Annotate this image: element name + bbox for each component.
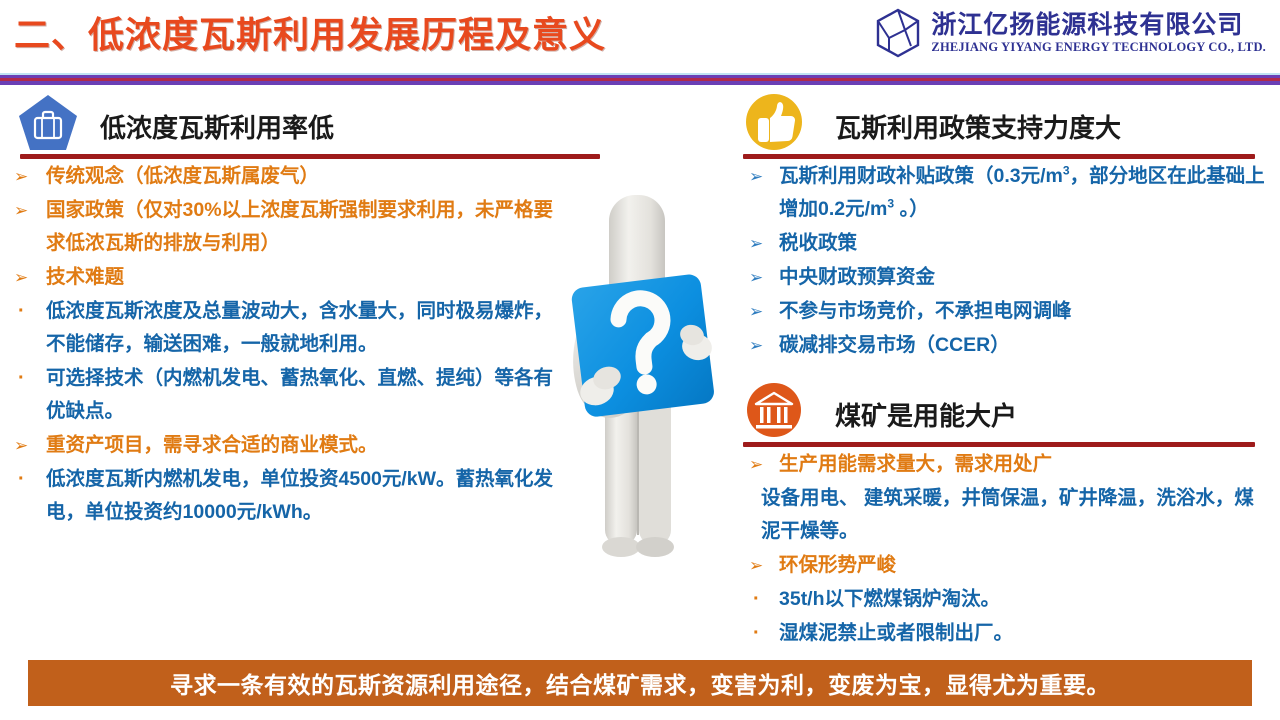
dot-bullet-icon: · bbox=[18, 295, 25, 328]
list-item-text: 35t/h以下燃煤锅炉淘汰。 bbox=[779, 588, 1000, 610]
list-item-text: 传统观念（低浓度瓦斯属废气） bbox=[46, 165, 319, 187]
right-column: 瓦斯利用政策支持力度大 ➢ 瓦斯利用财政补贴政策（0.3元/m3，部分地区在此基… bbox=[735, 92, 1265, 650]
dot-bullet-icon: · bbox=[18, 463, 25, 496]
list-item-text: 低浓度瓦斯内燃机发电，单位投资4500元/kW。蓄热氧化发电，单位投资约1000… bbox=[46, 468, 553, 523]
list-item-text: 技术难题 bbox=[46, 266, 124, 288]
hexagon-logo-icon bbox=[875, 8, 921, 58]
section-policy-support: 瓦斯利用政策支持力度大 bbox=[735, 92, 1265, 159]
list-item-text-post: 。） bbox=[894, 198, 929, 220]
dot-bullet-icon: · bbox=[753, 617, 760, 650]
arrow-bullet-icon: ➢ bbox=[749, 329, 763, 362]
list-item: · 湿煤泥禁止或者限制出厂。 bbox=[735, 617, 1265, 650]
section-rule-left bbox=[20, 154, 600, 159]
footer-text: 寻求一条有效的瓦斯资源利用途径，结合煤矿需求，变害为利，变废为宝，显得尤为重要。 bbox=[170, 666, 1110, 700]
list-item: ➢ 不参与市场竞价，不承担电网调峰 bbox=[735, 295, 1265, 328]
header-divider bbox=[0, 73, 1280, 85]
right-bullet-list-2: ➢ 生产用能需求量大，需求用处广 设备用电、 建筑采暖，井筒保温，矿井降温，洗浴… bbox=[735, 448, 1265, 650]
arrow-bullet-icon: ➢ bbox=[14, 261, 28, 294]
arrow-bullet-icon: ➢ bbox=[14, 194, 28, 227]
list-item-text: 低浓度瓦斯浓度及总量波动大，含水量大，同时极易爆炸，不能储存，输送困难，一般就地… bbox=[46, 300, 553, 355]
section-coal-mine-energy: 煤矿是用能大户 bbox=[735, 380, 1265, 447]
arrow-bullet-icon: ➢ bbox=[749, 295, 763, 328]
section-rule-right-2 bbox=[743, 442, 1255, 447]
section-title-right-1: 瓦斯利用政策支持力度大 bbox=[835, 108, 1121, 145]
dot-bullet-icon: · bbox=[753, 583, 760, 616]
list-item: ➢ 碳减排交易市场（CCER） bbox=[735, 329, 1265, 362]
slide-header: 二、低浓度瓦斯利用发展历程及意义 浙江亿扬能源科技有限公司 ZHEJIANG Y… bbox=[0, 0, 1280, 73]
list-item: · 35t/h以下燃煤锅炉淘汰。 bbox=[735, 583, 1265, 616]
list-item-text: 设备用电、 建筑采暖，井筒保温，矿井降温，洗浴水，煤泥干燥等。 bbox=[761, 487, 1254, 542]
superscript-cubic: 3 bbox=[1063, 164, 1070, 178]
arrow-bullet-icon: ➢ bbox=[749, 160, 763, 193]
section-low-utilization: 低浓度瓦斯利用率低 bbox=[0, 92, 620, 159]
list-item: ➢ 环保形势严峻 bbox=[735, 549, 1265, 582]
briefcase-pentagon-icon bbox=[18, 94, 78, 152]
section-title-left: 低浓度瓦斯利用率低 bbox=[100, 108, 334, 145]
list-item-text-pre: 瓦斯利用财政补贴政策（0.3元/m bbox=[779, 165, 1063, 187]
list-item-text: 碳减排交易市场（CCER） bbox=[779, 334, 1010, 356]
footer-banner: 寻求一条有效的瓦斯资源利用途径，结合煤矿需求，变害为利，变废为宝，显得尤为重要。 bbox=[28, 660, 1252, 706]
logo-name-cn: 浙江亿扬能源科技有限公司 bbox=[931, 13, 1266, 38]
list-item: ➢ 重资产项目，需寻求合适的商业模式。 bbox=[0, 429, 566, 462]
left-column: 低浓度瓦斯利用率低 ➢ 传统观念（低浓度瓦斯属废气） ➢ 国家政策（仅对30%以… bbox=[0, 92, 620, 529]
list-item: · 可选择技术（内燃机发电、蓄热氧化、直燃、提纯）等各有优缺点。 bbox=[0, 362, 566, 428]
list-item: ➢ 税收政策 bbox=[735, 227, 1265, 260]
list-item: ➢ 瓦斯利用财政补贴政策（0.3元/m3，部分地区在此基础上增加0.2元/m3 … bbox=[735, 160, 1265, 226]
left-bullet-list: ➢ 传统观念（低浓度瓦斯属废气） ➢ 国家政策（仅对30%以上浓度瓦斯强制要求利… bbox=[0, 160, 620, 529]
list-item: · 低浓度瓦斯浓度及总量波动大，含水量大，同时极易爆炸，不能储存，输送困难，一般… bbox=[0, 295, 566, 361]
arrow-bullet-icon: ➢ bbox=[749, 549, 763, 582]
section-rule-right-1 bbox=[743, 154, 1255, 159]
list-item-text: 湿煤泥禁止或者限制出厂。 bbox=[779, 622, 1013, 644]
list-item: ➢ 生产用能需求量大，需求用处广 bbox=[735, 448, 1265, 481]
divider-stripe-4 bbox=[0, 81, 1280, 85]
list-item: ➢ 中央财政预算资金 bbox=[735, 261, 1265, 294]
thumbs-up-icon bbox=[743, 92, 805, 152]
arrow-bullet-icon: ➢ bbox=[749, 261, 763, 294]
list-item-text: 税收政策 bbox=[779, 232, 857, 254]
arrow-bullet-icon: ➢ bbox=[749, 227, 763, 260]
company-logo: 浙江亿扬能源科技有限公司 ZHEJIANG YIYANG ENERGY TECH… bbox=[875, 8, 1266, 58]
list-item: 设备用电、 建筑采暖，井筒保温，矿井降温，洗浴水，煤泥干燥等。 bbox=[735, 482, 1265, 548]
bank-building-icon bbox=[743, 380, 805, 440]
list-item-text: 不参与市场竞价，不承担电网调峰 bbox=[779, 300, 1072, 322]
logo-name-en: ZHEJIANG YIYANG ENERGY TECHNOLOGY CO., L… bbox=[931, 41, 1266, 54]
list-item-text: 重资产项目，需寻求合适的商业模式。 bbox=[46, 434, 378, 456]
list-item: · 低浓度瓦斯内燃机发电，单位投资4500元/kW。蓄热氧化发电，单位投资约10… bbox=[0, 463, 566, 529]
list-item-text: 中央财政预算资金 bbox=[779, 266, 935, 288]
list-item-text: 生产用能需求量大，需求用处广 bbox=[779, 453, 1052, 475]
list-item-text: 国家政策（仅对30%以上浓度瓦斯强制要求利用，未严格要求低浓瓦斯的排放与利用） bbox=[46, 199, 553, 254]
list-item: ➢ 技术难题 bbox=[0, 261, 566, 294]
list-item-text: 可选择技术（内燃机发电、蓄热氧化、直燃、提纯）等各有优缺点。 bbox=[46, 367, 553, 422]
right-bullet-list-1: ➢ 瓦斯利用财政补贴政策（0.3元/m3，部分地区在此基础上增加0.2元/m3 … bbox=[735, 160, 1265, 362]
arrow-bullet-icon: ➢ bbox=[14, 429, 28, 462]
list-item: ➢ 国家政策（仅对30%以上浓度瓦斯强制要求利用，未严格要求低浓瓦斯的排放与利用… bbox=[0, 194, 566, 260]
page-title: 二、低浓度瓦斯利用发展历程及意义 bbox=[14, 6, 606, 58]
section-title-right-2: 煤矿是用能大户 bbox=[835, 396, 1017, 433]
arrow-bullet-icon: ➢ bbox=[14, 160, 28, 193]
arrow-bullet-icon: ➢ bbox=[749, 448, 763, 481]
person-holding-question-sign-icon bbox=[545, 195, 735, 575]
list-item-text: 环保形势严峻 bbox=[779, 554, 896, 576]
dot-bullet-icon: · bbox=[18, 362, 25, 395]
list-item: ➢ 传统观念（低浓度瓦斯属废气） bbox=[0, 160, 566, 193]
